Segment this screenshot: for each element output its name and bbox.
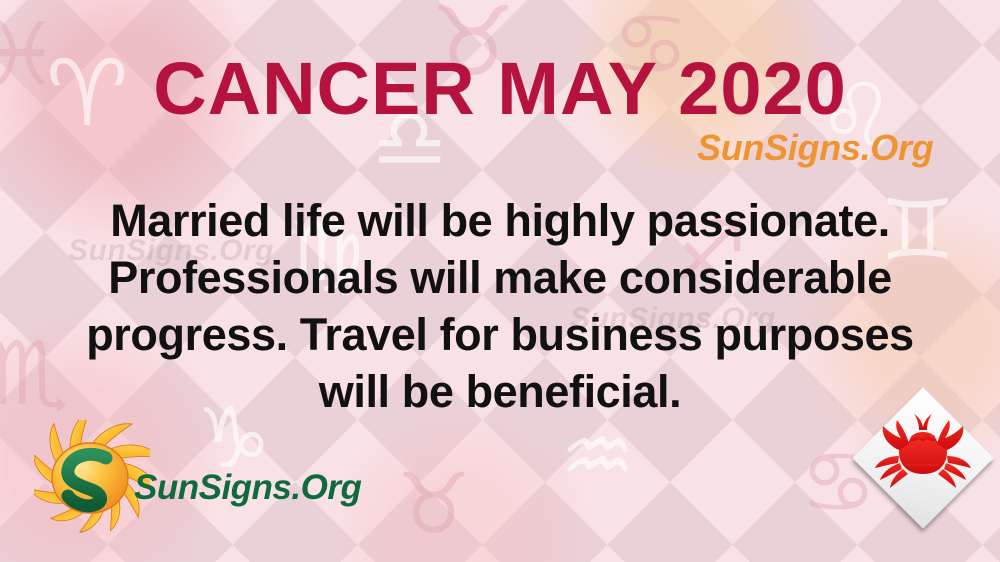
body-line-4: will be beneficial.	[40, 363, 960, 420]
body-line-1: Married life will be highly passionate.	[40, 192, 960, 249]
body-line-3: progress. Travel for business purposes	[40, 306, 960, 363]
taurus-glyph-icon-2: ♉	[396, 462, 471, 546]
logo-wordmark: SunSigns.Org	[134, 470, 361, 505]
page-title: CANCER MAY 2020	[0, 52, 1000, 126]
aquarius-glyph-icon: ♒	[560, 414, 635, 498]
horoscope-body-text: Married life will be highly passionate. …	[40, 192, 960, 420]
horoscope-banner: ♈ ♉ ♋ ♌ ♎ ♓ ♍ ♏ ♑ ♐ ♒ ♋ ♊ ♉ SunSigns.Org…	[0, 0, 1000, 562]
sun-s-monogram-icon	[34, 420, 150, 536]
brand-wordmark-orange: SunSigns.Org	[697, 130, 933, 166]
sunsigns-logo[interactable]: SunSigns.Org	[34, 418, 344, 538]
cancer-sign-emblem	[855, 390, 991, 526]
cancer-crab-icon	[869, 406, 977, 510]
body-line-2: Professionals will make considerable	[40, 249, 960, 306]
